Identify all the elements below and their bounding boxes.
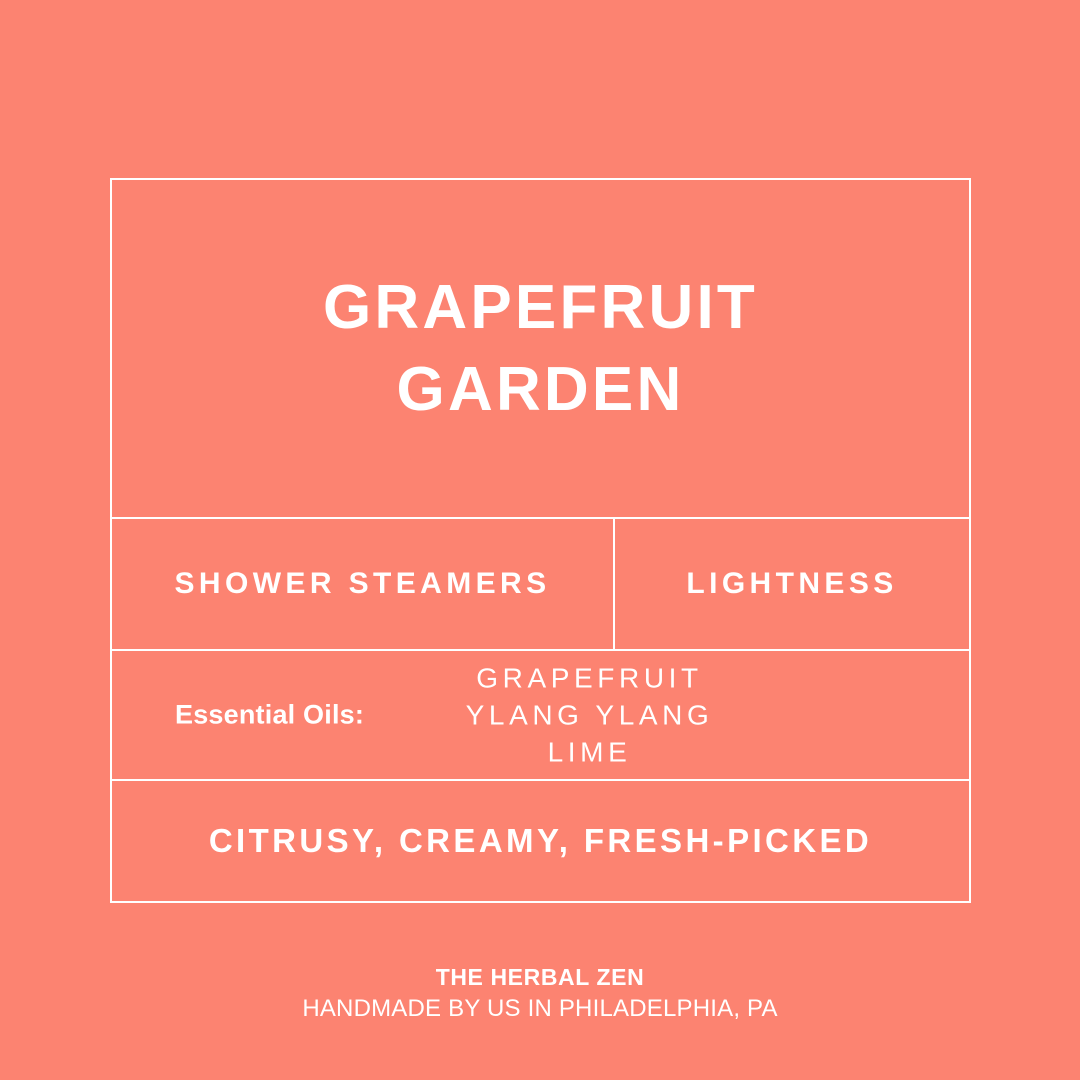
essential-oils-list: GRAPEFRUIT YLANG YLANG LIME xyxy=(112,660,969,771)
product-title-row: GRAPEFRUIT GARDEN xyxy=(112,180,969,519)
product-title-line-2: GARDEN xyxy=(323,349,758,431)
product-benefit: LIGHTNESS xyxy=(615,519,969,649)
essential-oil-item: GRAPEFRUIT xyxy=(210,660,969,697)
brand-name: THE HERBAL ZEN xyxy=(0,962,1080,992)
product-category: SHOWER STEAMERS xyxy=(112,519,615,649)
essential-oils-row: Essential Oils: GRAPEFRUIT YLANG YLANG L… xyxy=(112,651,969,781)
label-footer: THE HERBAL ZEN HANDMADE BY US IN PHILADE… xyxy=(0,962,1080,1026)
essential-oil-item: LIME xyxy=(210,734,969,771)
product-title: GRAPEFRUIT GARDEN xyxy=(323,267,758,431)
attributes-row: SHOWER STEAMERS LIGHTNESS xyxy=(112,519,969,651)
scent-description-row: CITRUSY, CREAMY, FRESH-PICKED xyxy=(112,781,969,901)
product-title-line-1: GRAPEFRUIT xyxy=(323,267,758,349)
origin-statement: HANDMADE BY US IN PHILADELPHIA, PA xyxy=(0,992,1080,1026)
product-label-page: { "theme": { "background_color": "#fc837… xyxy=(0,0,1080,1080)
product-label-card: GRAPEFRUIT GARDEN SHOWER STEAMERS LIGHTN… xyxy=(110,178,971,903)
essential-oil-item: YLANG YLANG xyxy=(210,697,969,734)
scent-description: CITRUSY, CREAMY, FRESH-PICKED xyxy=(209,822,872,860)
